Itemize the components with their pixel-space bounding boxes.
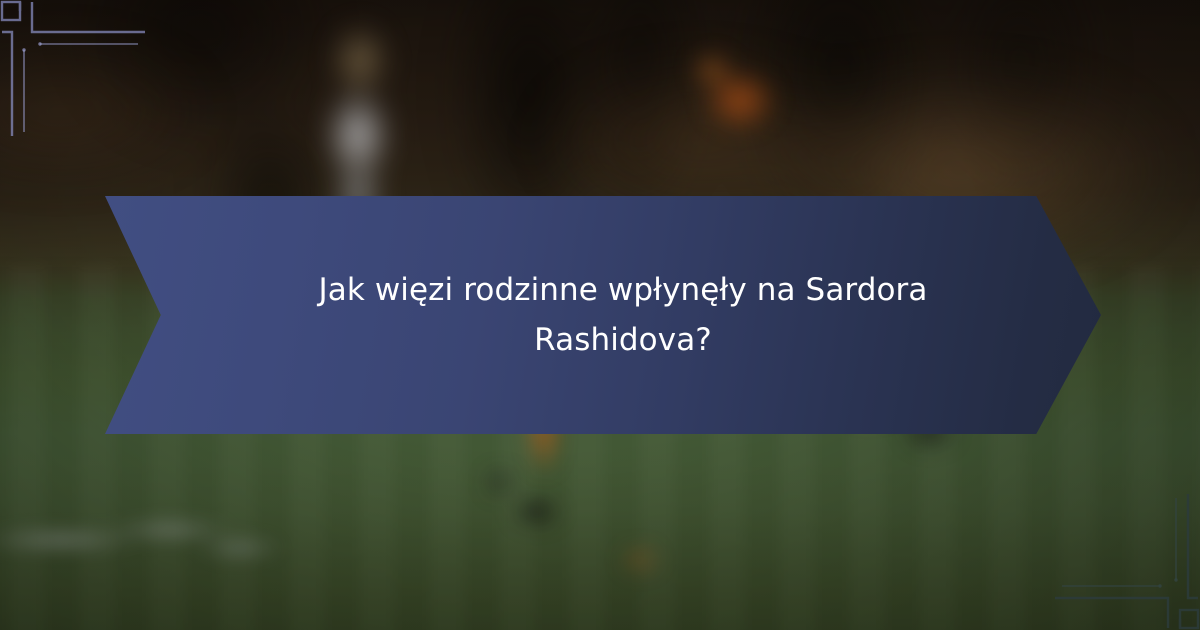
social-card-canvas: Jak więzi rodzinne wpłynęły na Sardora R… — [0, 0, 1200, 630]
circuit-bracket-icon-bottom-right — [1000, 480, 1200, 630]
circuit-bracket-icon-top-left — [0, 0, 200, 150]
headline-text: Jak więzi rodzinne wpłynęły na Sardora R… — [243, 265, 1003, 365]
headline-banner: Jak więzi rodzinne wpłynęły na Sardora R… — [105, 196, 1101, 434]
